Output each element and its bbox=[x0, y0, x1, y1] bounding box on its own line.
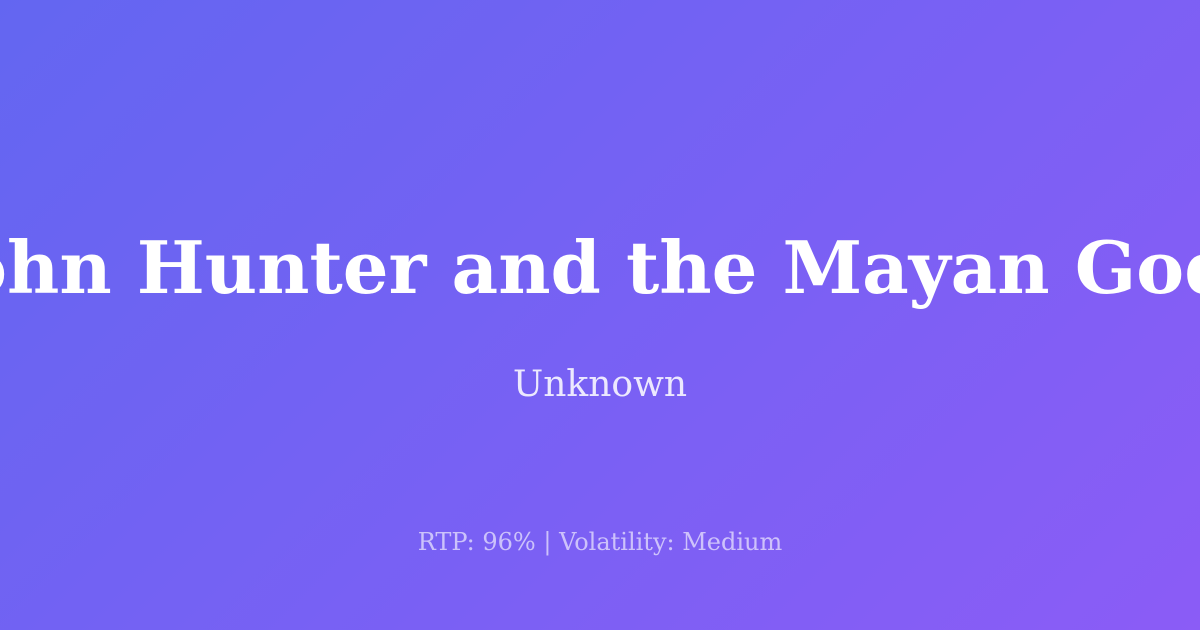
game-stats-line: RTP: 96% | Volatility: Medium bbox=[0, 528, 1200, 557]
game-title: John Hunter and the Mayan Gods bbox=[0, 232, 1200, 304]
game-provider: Unknown bbox=[0, 363, 1200, 406]
game-preview-card: John Hunter and the Mayan Gods Unknown R… bbox=[0, 0, 1200, 630]
